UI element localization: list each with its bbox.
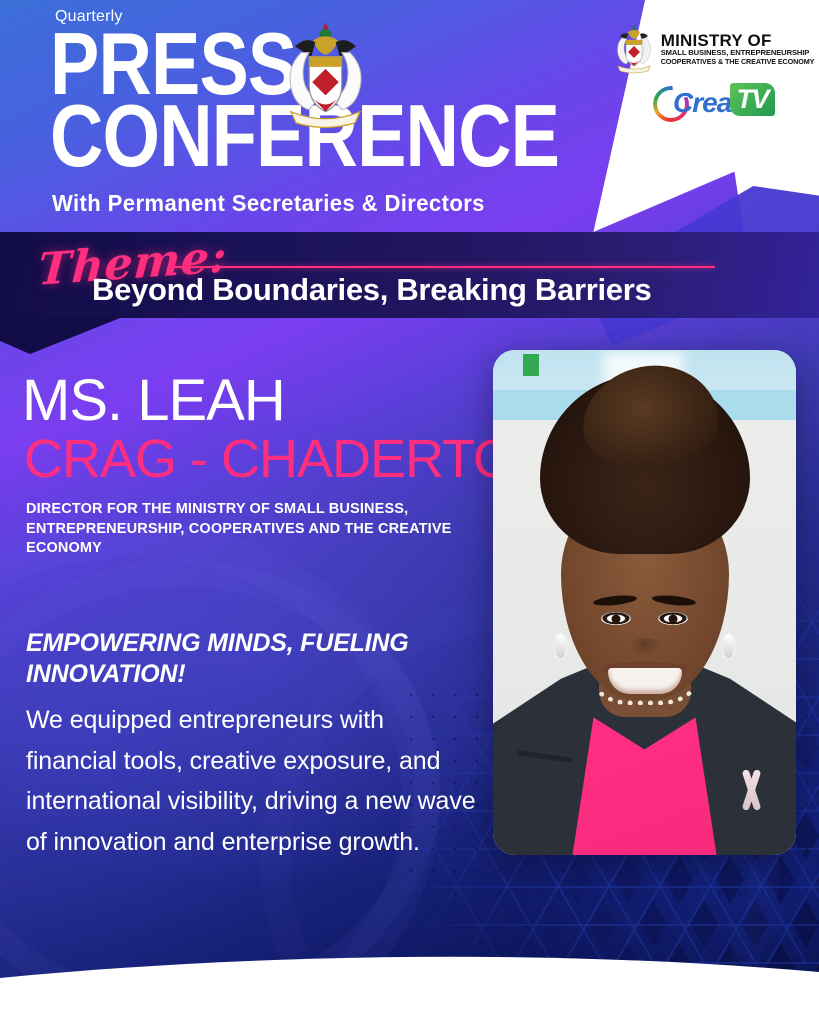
portrait-eye-left: [601, 612, 631, 625]
press-conference-poster: MINISTRY OF SMALL BUSINESS, ENTREPRENEUR…: [0, 0, 819, 1024]
bottom-wave-white: [0, 914, 819, 1024]
creatv-wordmark: Crea: [673, 87, 731, 119]
portrait-lapel-pin: [740, 769, 762, 811]
ministry-line-3: COOPERATIVES & THE CREATIVE ECONOMY: [661, 58, 815, 66]
creatv-tv-badge: TV: [730, 83, 775, 116]
message-body: We equipped entrepreneurs with financial…: [26, 700, 481, 862]
portrait-backdrop-green-mark: [523, 354, 539, 376]
portrait-nose: [628, 638, 662, 656]
creatv-logo: Crea TV: [649, 82, 777, 126]
message-headline: EMPOWERING MINDS, FUELING INNOVATION!: [26, 628, 446, 689]
ministry-line-1: MINISTRY OF: [661, 32, 815, 49]
theme-rule: [170, 266, 715, 268]
speaker-role: DIRECTOR FOR THE MINISTRY OF SMALL BUSIN…: [26, 500, 456, 559]
header-subtitle: With Permanent Secretaries & Directors: [52, 190, 485, 217]
speaker-last-name: CRAG - CHADERTON: [24, 432, 552, 486]
ministry-text: MINISTRY OF SMALL BUSINESS, ENTREPRENEUR…: [661, 32, 815, 66]
portrait-earring-right: [723, 634, 734, 658]
portrait-eye-right: [658, 612, 688, 625]
coat-of-arms-icon: [612, 22, 656, 76]
theme-text: Beyond Boundaries, Breaking Barriers: [92, 272, 651, 308]
logo-stack: MINISTRY OF SMALL BUSINESS, ENTREPRENEUR…: [613, 22, 813, 126]
speaker-portrait: [493, 350, 796, 855]
portrait-smile: [608, 668, 682, 694]
portrait-earring-left: [555, 634, 566, 658]
coat-of-arms-icon-large: [278, 20, 373, 130]
ministry-logo: MINISTRY OF SMALL BUSINESS, ENTREPRENEUR…: [612, 22, 815, 76]
speaker-first-name: MS. LEAH: [22, 372, 285, 430]
